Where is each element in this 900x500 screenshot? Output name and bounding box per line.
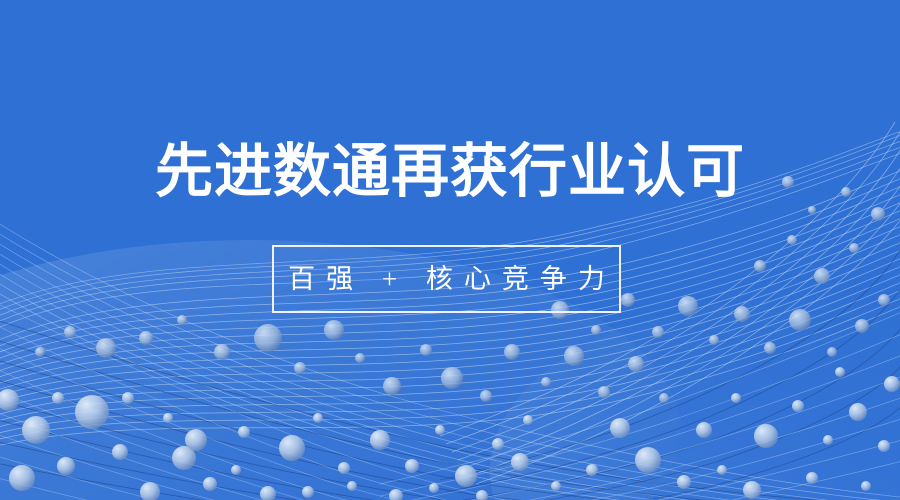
promotional-banner: 先进数通再获行业认可 百强 + 核心竞争力 <box>0 0 900 500</box>
page-title: 先进数通再获行业认可 <box>0 137 900 207</box>
subtitle-badge: 百强 + 核心竞争力 <box>272 245 621 313</box>
subtitle-text: 百强 + 核心竞争力 <box>277 264 616 294</box>
banner-content: 先进数通再获行业认可 百强 + 核心竞争力 <box>0 0 900 500</box>
